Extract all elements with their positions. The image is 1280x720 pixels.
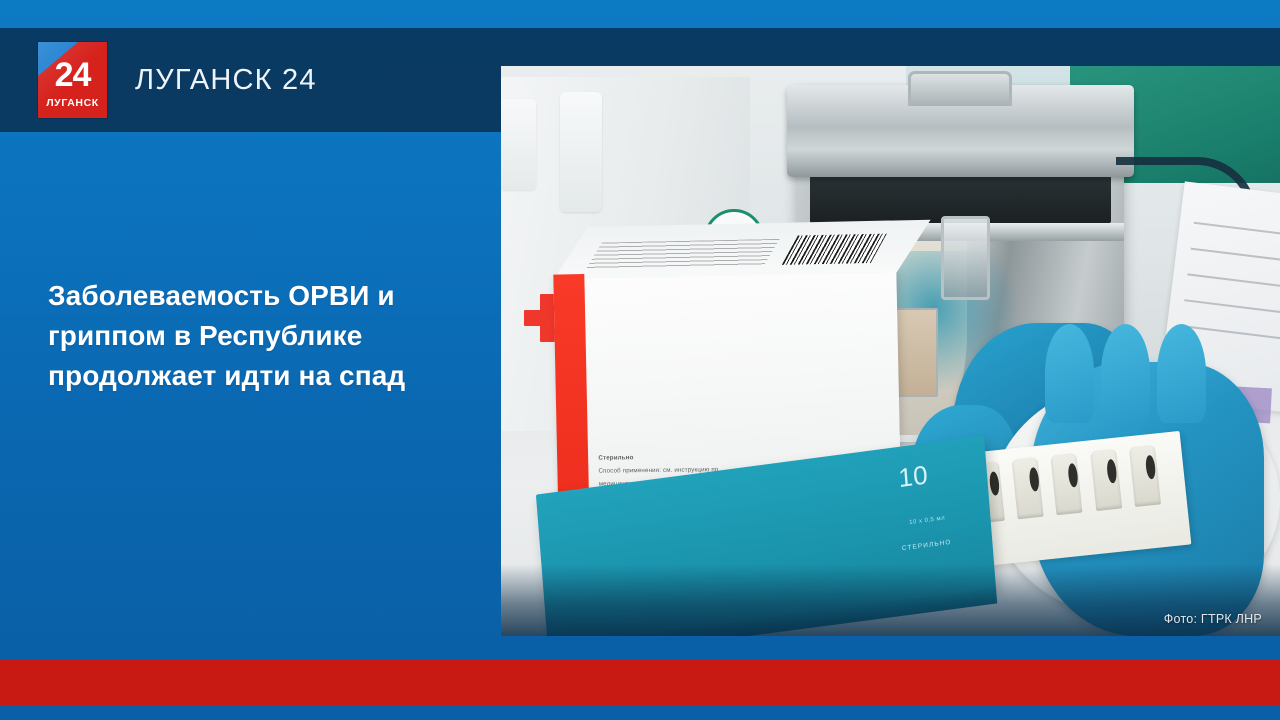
sterilizer-clasp: [941, 216, 990, 300]
news-card: 24 ЛУГАНСК ЛУГАНСК 24 Заболеваемость ОРВ…: [0, 0, 1280, 720]
bottom-blue-band: [0, 705, 1280, 720]
cassette-dot: [1107, 459, 1118, 484]
paper-line: [1193, 222, 1280, 240]
sterilizer-handle: [908, 71, 1012, 106]
logo-city: ЛУГАНСК: [38, 98, 107, 109]
cassette-dot: [1146, 455, 1157, 480]
glove-finger: [1045, 324, 1094, 422]
logo-number: 24: [38, 58, 107, 92]
ampoule-cassette: [963, 431, 1192, 567]
paper-line: [1190, 248, 1280, 266]
paper-line: [1187, 274, 1280, 292]
glove-finger: [1101, 324, 1150, 422]
photo-scene: NYL/N: [501, 66, 1280, 636]
medbox-line-1: Стерильно: [598, 454, 633, 461]
headline: Заболеваемость ОРВИ и гриппом в Республи…: [48, 276, 448, 396]
lugansk24-logo[interactable]: 24 ЛУГАНСК: [38, 42, 107, 118]
cabinet-latch-center: [560, 92, 602, 212]
bottom-red-band: [0, 660, 1280, 705]
teal-box-count: 10: [897, 462, 929, 492]
photo-credit: Фото: ГТРК ЛНР: [1164, 612, 1262, 626]
channel-name: ЛУГАНСК 24: [135, 64, 317, 97]
paper-line: [1184, 300, 1280, 318]
cassette-slot: [1129, 445, 1161, 507]
cassette-slot: [1051, 453, 1083, 515]
cassette-slot: [1012, 457, 1044, 519]
cassette-dot: [1068, 463, 1079, 488]
teal-box-sterile: СТЕРИЛЬНО: [902, 539, 952, 553]
cassette-dot: [990, 471, 1001, 496]
medicine-box-top-text: [586, 239, 780, 269]
news-photo: NYL/N: [501, 66, 1280, 636]
cassette-slot: [1090, 449, 1122, 511]
barcode: [781, 234, 886, 265]
cabinet-latch-left: [501, 99, 536, 191]
cassette-dot: [1029, 467, 1040, 492]
teal-box-dose: 10 х 0,5 мл: [909, 515, 945, 526]
glove-finger: [1157, 324, 1206, 422]
